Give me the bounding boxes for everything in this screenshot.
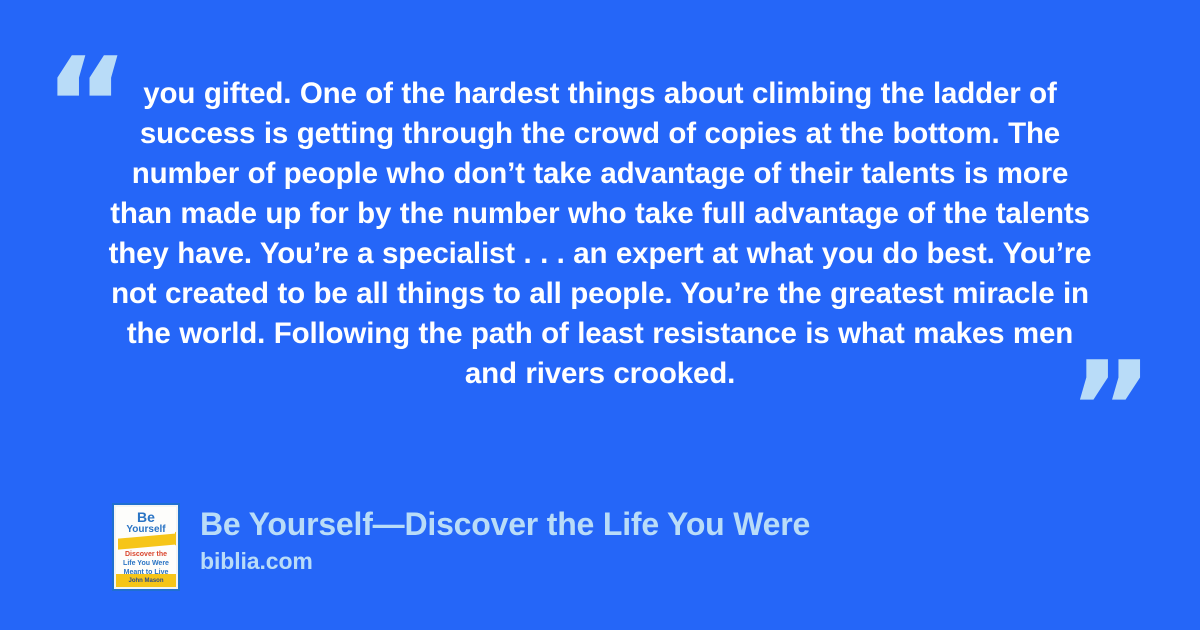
quote-card: “ you gifted. One of the hardest things … xyxy=(0,0,1200,630)
book-cover-subtitle-line-1: Discover the xyxy=(116,550,176,559)
book-cover-arrow-icon xyxy=(118,533,176,549)
book-cover-art: Be Yourself Discover the Life You Were M… xyxy=(116,507,176,587)
attribution-text: Be Yourself—Discover the Life You Were b… xyxy=(200,503,810,575)
book-cover-subtitle: Discover the Life You Were Meant to Live xyxy=(116,550,176,577)
quote-block: “ you gifted. One of the hardest things … xyxy=(0,48,1200,428)
book-cover-subtitle-line-2: Life You Were xyxy=(116,559,176,568)
site-name[interactable]: biblia.com xyxy=(200,548,810,575)
quote-text: you gifted. One of the hardest things ab… xyxy=(104,74,1096,394)
book-cover-author: John Mason xyxy=(116,577,176,585)
book-title: Be Yourself—Discover the Life You Were xyxy=(200,505,810,543)
attribution-footer: Be Yourself Discover the Life You Were M… xyxy=(112,503,810,591)
book-cover-thumbnail: Be Yourself Discover the Life You Were M… xyxy=(112,503,180,591)
book-cover-title-line-1: Be xyxy=(116,511,176,524)
close-quotation-mark-icon: ” xyxy=(1068,344,1153,474)
